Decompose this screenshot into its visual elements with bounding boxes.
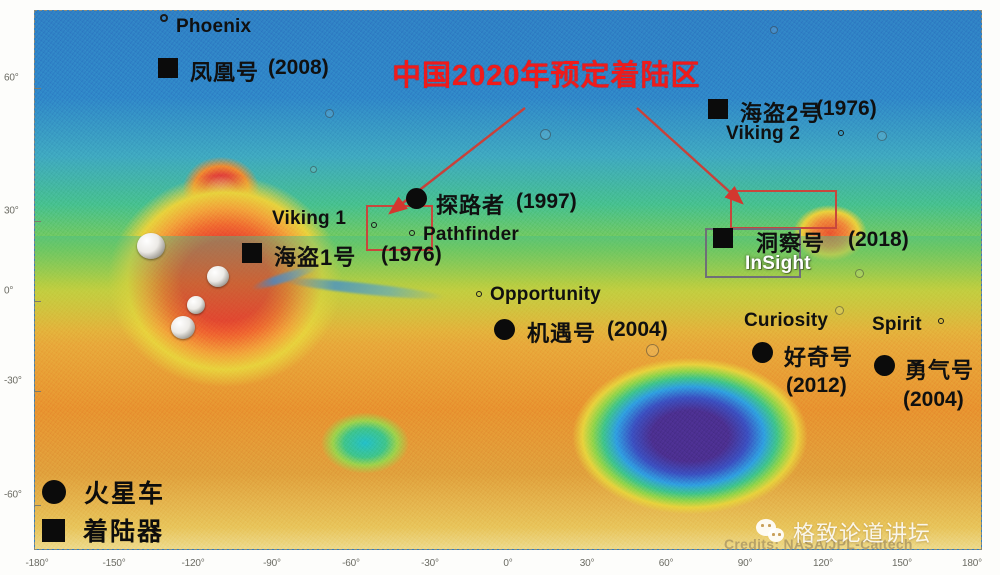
map-legend: 火星车 着陆器 [42,473,165,549]
site-label-viking1-cn: 海盗1号 [274,240,356,272]
marker-rover-spirit [874,355,895,376]
site-label-phoenix-cn: 凤凰号 [190,55,259,87]
arsia-mons-peak [171,316,195,339]
lon-tick-120: 120° [813,558,833,569]
site-year-pathfinder: (1997) [516,190,577,214]
legend-label-lander: 着陆器 [83,512,164,548]
olympus-mons-peak [137,233,165,259]
lon-tick-neg90: -90° [263,558,281,569]
site-year-spirit: (2004) [903,388,964,412]
axis-tick [34,88,41,89]
site-dot-opportunity [476,291,482,297]
crater-mark [310,166,317,173]
wechat-icon [756,519,786,545]
site-label-spirit-cn: 勇气号 [905,353,974,385]
lon-tick-0: 0° [503,558,512,569]
ascraeus-mons-peak [207,266,229,287]
site-label-pathfinder-cn: 探路者 [436,188,505,220]
site-year-opportunity: (2004) [607,318,668,342]
crater-mark [540,129,551,140]
watermark-text: 格致论道讲坛 [793,516,931,548]
planned-landing-zone-title: 中国2020年预定着陆区 [392,52,701,94]
marker-lander-insight [713,228,733,248]
lon-tick-neg150: -150° [102,558,125,569]
crater-mark [325,109,334,118]
marker-lander-viking2 [708,99,728,119]
site-label-opportunity-en: Opportunity [490,284,601,306]
site-dot-viking2 [838,130,844,136]
site-label-viking1-en: Viking 1 [272,208,346,230]
landing-zone-box-east [730,190,837,229]
site-label-pathfinder-en: Pathfinder [423,224,519,246]
site-label-curiosity-cn: 好奇号 [784,340,853,372]
site-label-opportunity-cn: 机遇号 [527,316,596,348]
site-year-phoenix: (2008) [268,56,329,80]
site-label-insight-en: InSight [745,253,811,275]
crater-mark [770,26,778,34]
lat-tick-30: 30° [4,206,19,217]
axis-tick [34,391,41,392]
lon-tick-neg30: -30° [421,558,439,569]
lon-tick-180: 180° [962,558,982,569]
lon-tick-neg180: -180° [25,558,48,569]
site-year-curiosity: (2012) [786,374,847,398]
site-label-phoenix-en: Phoenix [176,16,251,38]
marker-rover-curiosity [752,342,773,363]
site-label-viking2-en: Viking 2 [726,123,800,145]
crater-mark [877,131,887,141]
site-year-viking1: (1976) [381,243,442,267]
pavonis-mons-peak [187,296,205,314]
lon-tick-30: 30° [580,558,595,569]
site-dot-pathfinder [409,230,415,236]
site-dot-phoenix [160,14,168,22]
lat-tick-neg60: -60° [4,490,22,501]
crater-mark [646,344,659,357]
marker-rover-pathfinder [406,188,427,209]
marker-rover-opportunity [494,319,515,340]
lon-tick-150: 150° [892,558,912,569]
lat-tick-neg30: -30° [4,376,22,387]
axis-tick [34,301,41,302]
legend-row-lander: 着陆器 [42,511,165,549]
site-dot-viking1 [371,222,377,228]
lon-tick-neg60: -60° [342,558,360,569]
marker-lander-phoenix [158,58,178,78]
site-year-insight: (2018) [848,228,909,252]
site-label-curiosity-en: Curiosity [744,310,828,332]
lat-tick-0: 0° [4,286,13,297]
rover-glyph-icon [42,480,66,504]
axis-tick [34,221,41,222]
marker-lander-viking1 [242,243,262,263]
lat-tick-60: 60° [4,73,19,84]
legend-row-rover: 火星车 [42,473,165,511]
wechat-watermark: 格致论道讲坛 [756,516,931,548]
axis-tick [34,505,41,506]
site-year-viking2: (1976) [816,97,877,121]
mars-map-figure: 60° 30° 0° -30° -60° -180° -150° -120° -… [0,0,1000,575]
legend-label-rover: 火星车 [84,474,165,510]
crater-mark [835,306,844,315]
lander-glyph-icon [42,519,65,542]
crater-mark [855,269,864,278]
lon-tick-90: 90° [738,558,753,569]
lon-tick-neg120: -120° [181,558,204,569]
site-dot-spirit [938,318,944,324]
site-label-spirit-en: Spirit [872,314,922,336]
lon-tick-60: 60° [659,558,674,569]
